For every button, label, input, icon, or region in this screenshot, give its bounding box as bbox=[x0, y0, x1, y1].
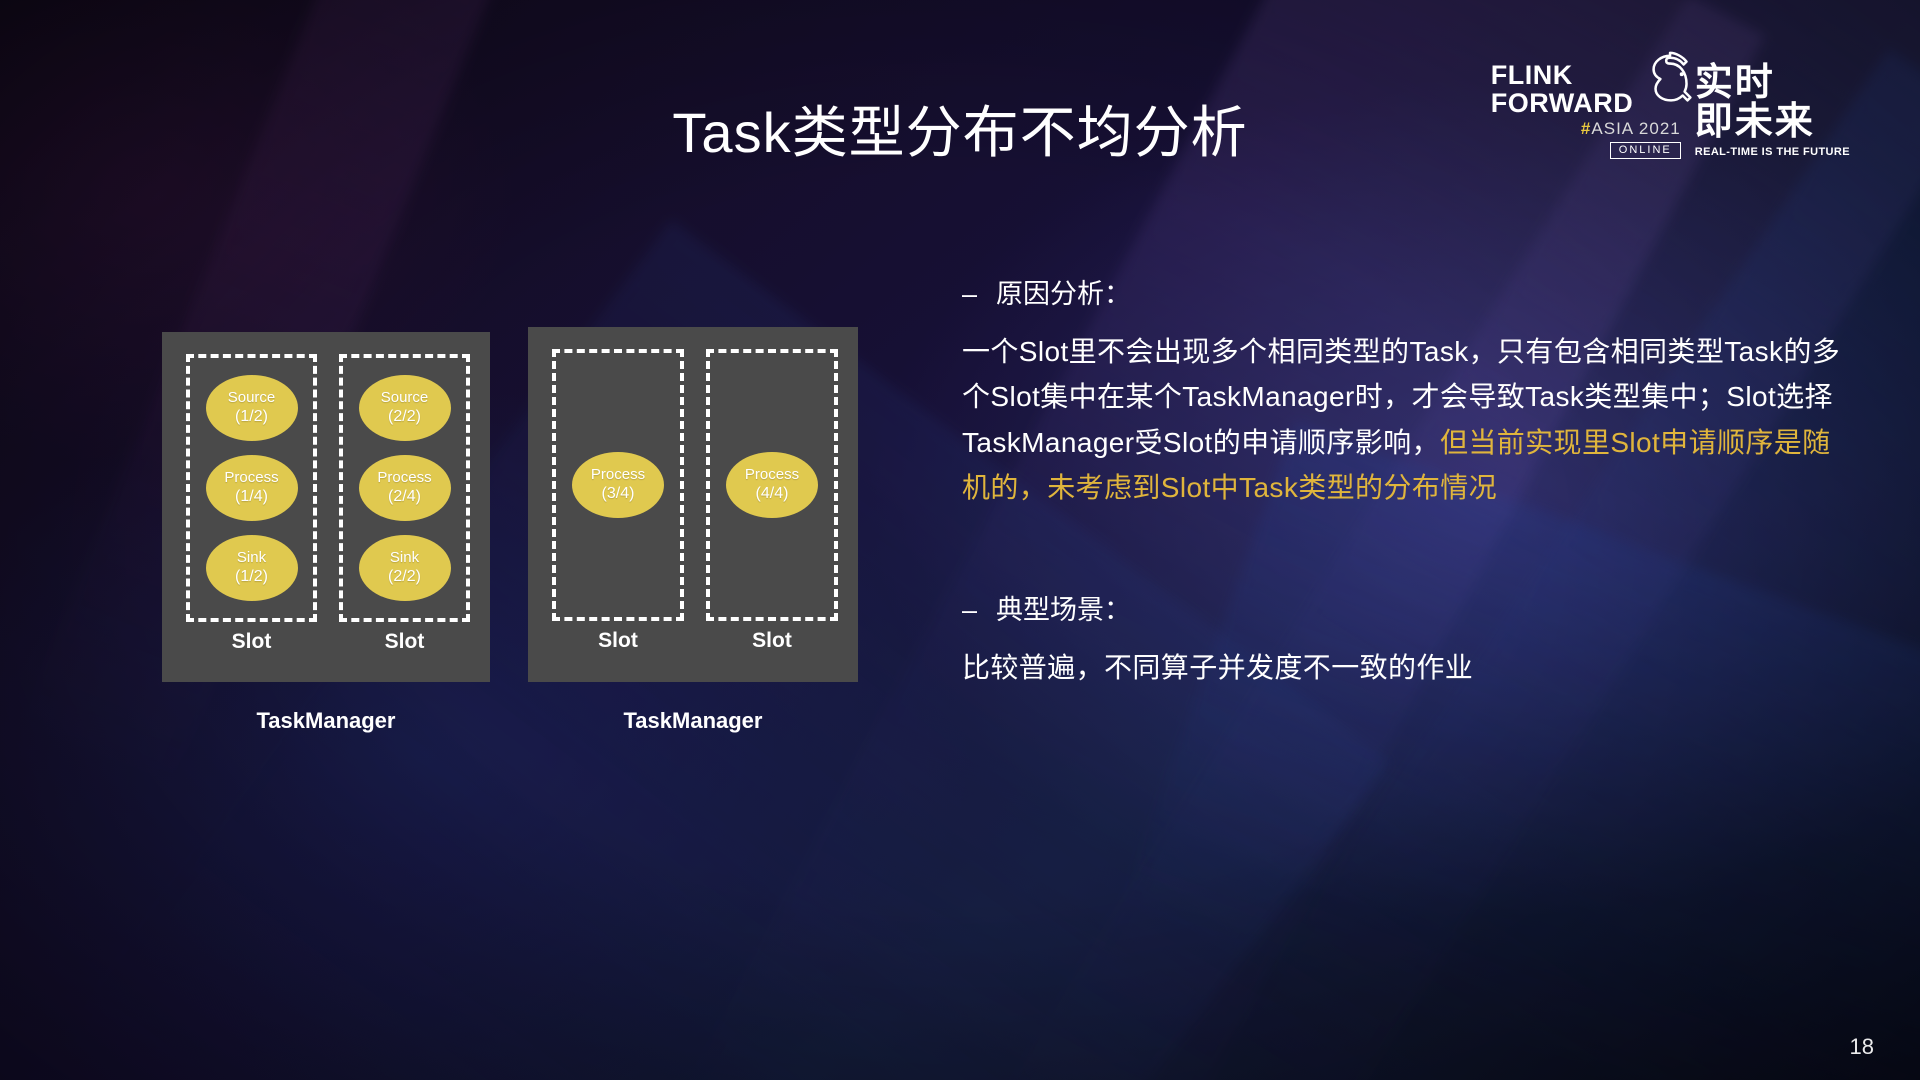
slot-container: Process (3/4) Slot Process (4/4) Slot bbox=[552, 349, 834, 653]
task-node-name: Source bbox=[381, 389, 429, 408]
logo-wordmark: FLINK FORWARD #ASIA 2021 ONLINE bbox=[1491, 62, 1681, 159]
task-node: Sink (1/2) bbox=[206, 535, 298, 601]
slot-label: Slot bbox=[232, 630, 272, 654]
taskmanager-panel: Process (3/4) Slot Process (4/4) Slot bbox=[528, 327, 858, 682]
section-heading-text: 原因分析： bbox=[996, 272, 1131, 311]
scenario-paragraph: 比较普遍，不同算子并发度不一致的作业 bbox=[962, 645, 1842, 690]
bullet-dash: – bbox=[962, 279, 996, 310]
task-node: Source (2/2) bbox=[359, 375, 451, 441]
slot-label: Slot bbox=[385, 630, 425, 654]
task-node-name: Process bbox=[591, 466, 645, 485]
logo-tagline: REAL-TIME IS THE FUTURE bbox=[1695, 146, 1850, 158]
content-column: – 原因分析： 一个Slot里不会出现多个相同类型的Task，只有包含相同类型T… bbox=[962, 272, 1842, 691]
bullet-dash: – bbox=[962, 595, 996, 626]
section-heading-cause: – 原因分析： bbox=[962, 272, 1842, 311]
slot-column: Source (2/2) Process (2/4) Sink (2/2) Sl… bbox=[339, 354, 470, 654]
taskmanager-label: TaskManager bbox=[162, 708, 490, 734]
task-node: Process (1/4) bbox=[206, 455, 298, 521]
section-spacer bbox=[962, 510, 1842, 588]
task-node: Process (3/4) bbox=[572, 452, 664, 518]
slot-boundary: Process (3/4) bbox=[552, 349, 684, 621]
task-node-name: Process bbox=[377, 469, 431, 488]
task-node-index: (2/2) bbox=[388, 407, 421, 427]
logo-asia-text: #ASIA 2021 bbox=[1491, 119, 1681, 139]
logo-chinese-block: 实时 即未来 REAL-TIME IS THE FUTURE bbox=[1695, 62, 1850, 158]
task-node-index: (1/2) bbox=[235, 407, 268, 427]
task-node: Process (4/4) bbox=[726, 452, 818, 518]
slot-boundary: Process (4/4) bbox=[706, 349, 838, 621]
logo-online-text: ONLINE bbox=[1610, 142, 1681, 159]
slot-column: Process (3/4) Slot bbox=[552, 349, 684, 653]
task-node-index: (4/4) bbox=[756, 484, 789, 504]
task-node-index: (3/4) bbox=[602, 484, 635, 504]
slot-label: Slot bbox=[598, 629, 638, 653]
task-node-name: Sink bbox=[237, 549, 266, 568]
cause-paragraph: 一个Slot里不会出现多个相同类型的Task，只有包含相同类型Task的多个Sl… bbox=[962, 329, 1842, 510]
taskmanager-block-2: Process (3/4) Slot Process (4/4) Slot bbox=[528, 327, 858, 734]
task-node-name: Process bbox=[224, 469, 278, 488]
logo-asia-year: ASIA 2021 bbox=[1591, 119, 1680, 138]
task-node-index: (2/4) bbox=[388, 487, 421, 507]
hash-symbol: # bbox=[1581, 119, 1591, 138]
logo-online-badge: ONLINE bbox=[1491, 142, 1681, 159]
section-heading-scenario: – 典型场景： bbox=[962, 588, 1842, 627]
section-heading-text: 典型场景： bbox=[996, 588, 1131, 627]
slot-column: Process (4/4) Slot bbox=[706, 349, 838, 653]
taskmanager-block-1: Source (1/2) Process (1/4) Sink (1/2) Sl… bbox=[162, 332, 490, 734]
logo-cn-line1: 实时 bbox=[1695, 64, 1850, 103]
slot-boundary: Source (2/2) Process (2/4) Sink (2/2) bbox=[339, 354, 470, 622]
task-node-index: (1/2) bbox=[235, 567, 268, 587]
slot-label: Slot bbox=[752, 629, 792, 653]
logo-cn-line2: 即未来 bbox=[1695, 103, 1850, 142]
task-node: Process (2/4) bbox=[359, 455, 451, 521]
task-node: Sink (2/2) bbox=[359, 535, 451, 601]
page-number: 18 bbox=[1850, 1034, 1874, 1060]
taskmanager-panel: Source (1/2) Process (1/4) Sink (1/2) Sl… bbox=[162, 332, 490, 682]
slot-container: Source (1/2) Process (1/4) Sink (1/2) Sl… bbox=[186, 354, 466, 654]
flink-forward-logo: FLINK FORWARD #ASIA 2021 ONLINE 实时 即未来 R… bbox=[1491, 62, 1850, 159]
taskmanager-label: TaskManager bbox=[528, 708, 858, 734]
task-node-name: Sink bbox=[390, 549, 419, 568]
task-node-name: Source bbox=[228, 389, 276, 408]
task-node: Source (1/2) bbox=[206, 375, 298, 441]
task-node-name: Process bbox=[745, 466, 799, 485]
task-node-index: (1/4) bbox=[235, 487, 268, 507]
slot-boundary: Source (1/2) Process (1/4) Sink (1/2) bbox=[186, 354, 317, 622]
slide-root: Task类型分布不均分析 FLINK FORWARD #ASIA 2021 ON… bbox=[0, 0, 1920, 1080]
squirrel-icon bbox=[1641, 50, 1703, 112]
task-node-index: (2/2) bbox=[388, 567, 421, 587]
slot-column: Source (1/2) Process (1/4) Sink (1/2) Sl… bbox=[186, 354, 317, 654]
